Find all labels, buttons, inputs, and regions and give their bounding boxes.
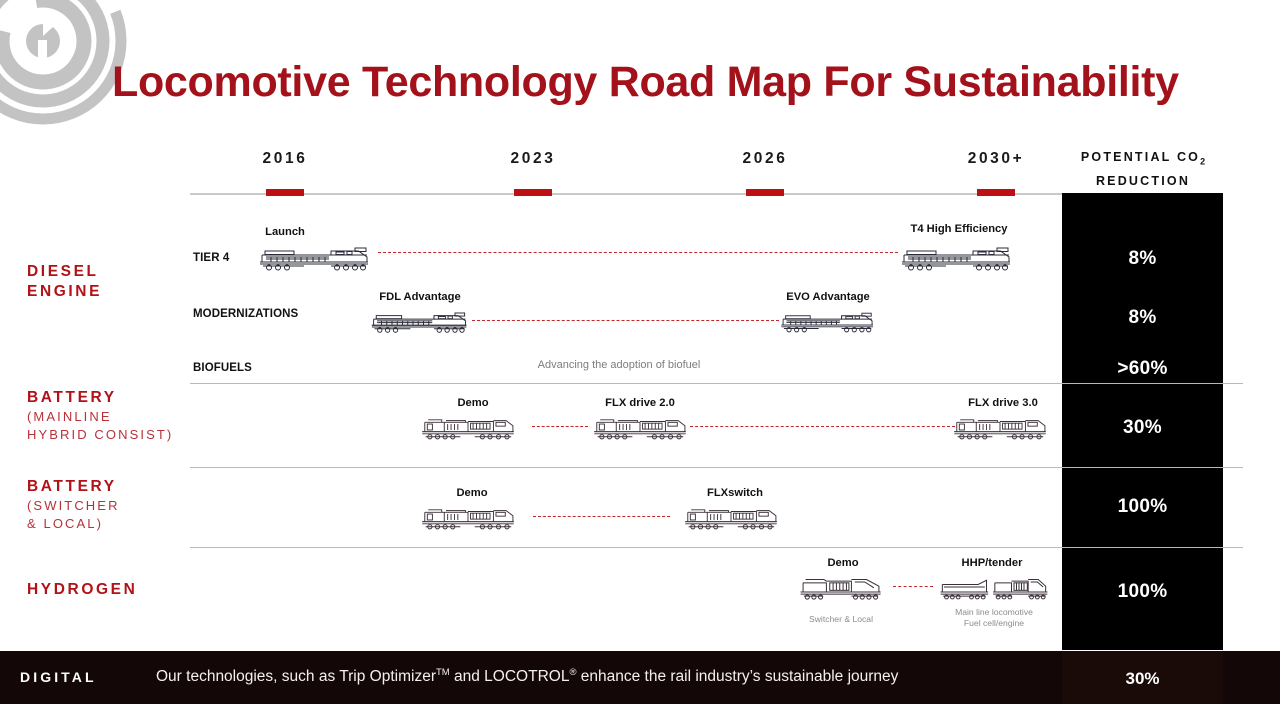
digital-text-part1: Our technologies, such as Trip Optimizer	[156, 668, 436, 685]
timeline-tick-2016	[266, 189, 304, 196]
co2-value-tier4: 8%	[1062, 248, 1223, 270]
timeline-year-2023: 2023	[473, 150, 593, 168]
connector-hydrogen	[893, 586, 933, 587]
category-diesel-line1: DIESEL	[27, 262, 202, 282]
co2-value-battery-mainline: 30%	[1062, 417, 1223, 439]
row-label-tier4: TIER 4	[193, 252, 229, 264]
category-battery1-sub1: (MAINLINE	[27, 408, 202, 426]
row-separator-1	[190, 383, 1243, 384]
category-battery2-title: BATTERY	[27, 477, 202, 497]
timeline-tick-2026	[746, 189, 784, 196]
connector-modernizations	[472, 320, 779, 321]
digital-co2-value: 30%	[1062, 669, 1223, 689]
milestone-label-fdl-advantage: FDL Advantage	[360, 291, 480, 303]
co2-value-biofuels: >60%	[1062, 358, 1223, 380]
locomotive-icon-flx-drive-30	[950, 412, 1050, 442]
digital-tagline: Our technologies, such as Trip Optimizer…	[156, 667, 898, 686]
milestone-label-flxswitch: FLXswitch	[675, 487, 795, 499]
row-label-biofuels: BIOFUELS	[193, 362, 252, 374]
locomotive-icon-demo-switcher	[418, 502, 518, 532]
caption-hhp-tender: Main line locomotive Fuel cell/engine	[934, 607, 1054, 629]
locomotive-icon-evo-advantage	[778, 306, 878, 334]
digital-text-part2: and LOCOTROL	[450, 668, 570, 685]
caption-demo-hydrogen: Switcher & Local	[781, 614, 901, 625]
timeline-tick-2030plus	[977, 189, 1015, 196]
locomotive-icon-launch	[256, 240, 374, 272]
locomotive-icon-fdl-advantage	[368, 306, 472, 334]
locomotive-icon-demo-mainline	[418, 412, 518, 442]
co2-subscript: 2	[1200, 157, 1205, 167]
category-diesel-line2: ENGINE	[27, 282, 202, 302]
milestone-label-demo-mainline: Demo	[413, 397, 533, 409]
milestone-label-demo-switcher: Demo	[412, 487, 532, 499]
category-hydrogen-title: HYDROGEN	[27, 580, 202, 600]
row-separator-2	[190, 467, 1243, 468]
co2-header-line2: REDUCTION	[1096, 174, 1190, 188]
milestone-label-evo-advantage: EVO Advantage	[768, 291, 888, 303]
co2-value-hydrogen: 100%	[1062, 581, 1223, 603]
milestone-label-flx-drive-20: FLX drive 2.0	[580, 397, 700, 409]
timeline-year-2016: 2016	[225, 150, 345, 168]
page-title: Locomotive Technology Road Map For Susta…	[112, 58, 1179, 107]
co2-column-header: POTENTIAL CO2 REDUCTION	[1062, 148, 1224, 191]
hhp-tender-text: HHP/tender	[962, 557, 1023, 569]
locomotive-icon-t4-high-efficiency	[898, 240, 1016, 272]
category-battery2-sub1: (SWITCHER	[27, 497, 202, 515]
biofuel-annotation: Advancing the adoption of biofuel	[498, 359, 740, 371]
row-label-modernizations: MODERNIZATIONS	[193, 308, 298, 320]
locomotive-icon-hhp-tender	[938, 572, 1050, 602]
timeline-year-2030plus: 2030+	[936, 150, 1056, 168]
timeline-year-2026: 2026	[705, 150, 825, 168]
category-battery2-sub2: & LOCAL)	[27, 515, 202, 533]
category-battery-mainline: BATTERY (MAINLINE HYBRID CONSIST)	[27, 388, 202, 444]
connector-battery-switcher	[533, 516, 670, 517]
locomotive-icon-flxswitch	[681, 502, 781, 532]
row-separator-3	[190, 547, 1243, 548]
timeline-tick-2023	[514, 189, 552, 196]
connector-battery-mainline-1	[532, 426, 588, 427]
trademark-sup: TM	[436, 667, 450, 678]
milestone-label-demo-hydrogen: Demo	[783, 557, 903, 569]
locomotive-icon-demo-hydrogen	[797, 572, 885, 602]
co2-value-battery-switcher: 100%	[1062, 496, 1223, 518]
category-battery1-title: BATTERY	[27, 388, 202, 408]
digital-label: DIGITAL	[20, 669, 97, 685]
co2-header-line1: POTENTIAL CO	[1081, 150, 1200, 164]
wabtec-circular-logo	[0, 0, 128, 126]
connector-tier4	[378, 252, 898, 253]
connector-battery-mainline-2	[690, 426, 955, 427]
category-battery-switcher: BATTERY (SWITCHER & LOCAL)	[27, 477, 202, 533]
digital-text-part3: enhance the rail industry’s sustainable …	[576, 668, 898, 685]
timeline-axis	[190, 193, 1065, 195]
locomotive-icon-flx-drive-20	[590, 412, 690, 442]
caption-hhp-line2: Fuel cell/engine	[934, 618, 1054, 629]
milestone-label-hhp-tender: HHP/tender	[939, 557, 1045, 570]
category-diesel-engine: DIESEL ENGINE	[27, 262, 202, 302]
co2-value-modernizations: 8%	[1062, 307, 1223, 329]
caption-hhp-line1: Main line locomotive	[934, 607, 1054, 618]
milestone-label-launch: Launch	[225, 226, 345, 238]
milestone-label-flx-drive-30: FLX drive 3.0	[943, 397, 1063, 409]
category-hydrogen: HYDROGEN	[27, 580, 202, 600]
milestone-label-t4-high-efficiency: T4 High Efficiency	[899, 223, 1019, 235]
category-battery1-sub2: HYBRID CONSIST)	[27, 426, 202, 444]
